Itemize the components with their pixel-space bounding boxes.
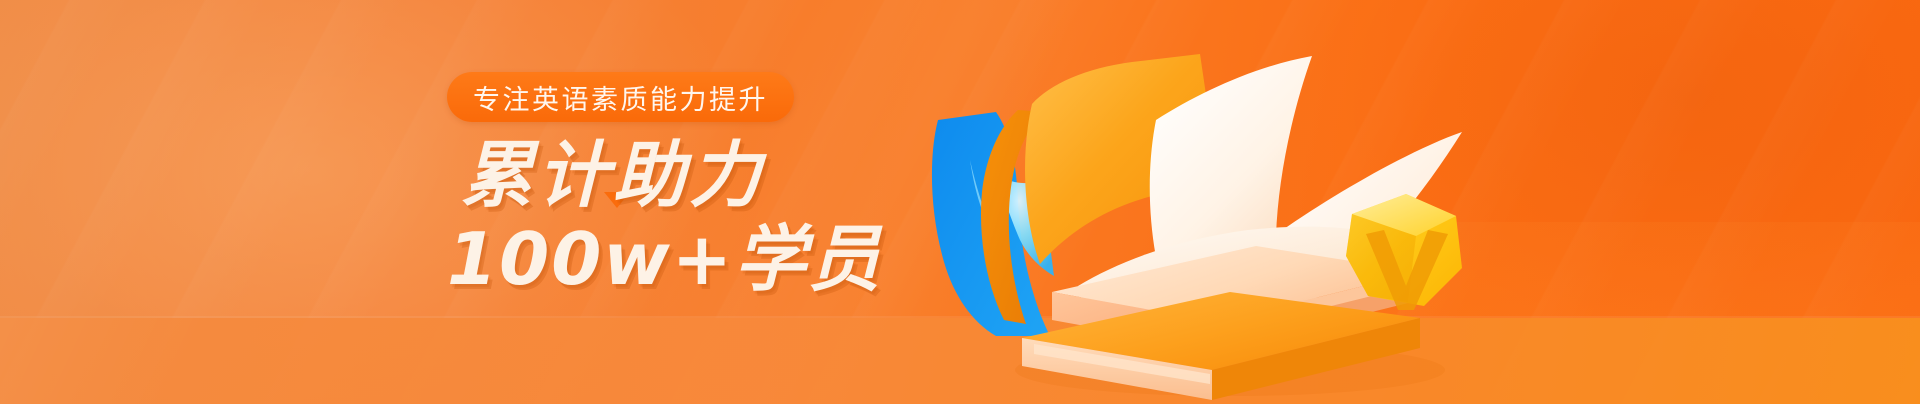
headline-line-2: 100w+学员 [447,217,967,301]
banner-text-block: 专注英语素质能力提升 累计助力 100w+学员 [0,0,1000,404]
promo-banner: 专注英语素质能力提升 累计助力 100w+学员 [0,0,1920,404]
tagline-badge: 专注英语素质能力提升 [447,72,794,122]
tagline-badge-wrapper: 专注英语素质能力提升 [447,72,794,122]
headline-line-1: 累计助力 [447,133,967,217]
books-illustration [900,0,1520,404]
page-title: 累计助力 100w+学员 [447,133,967,301]
